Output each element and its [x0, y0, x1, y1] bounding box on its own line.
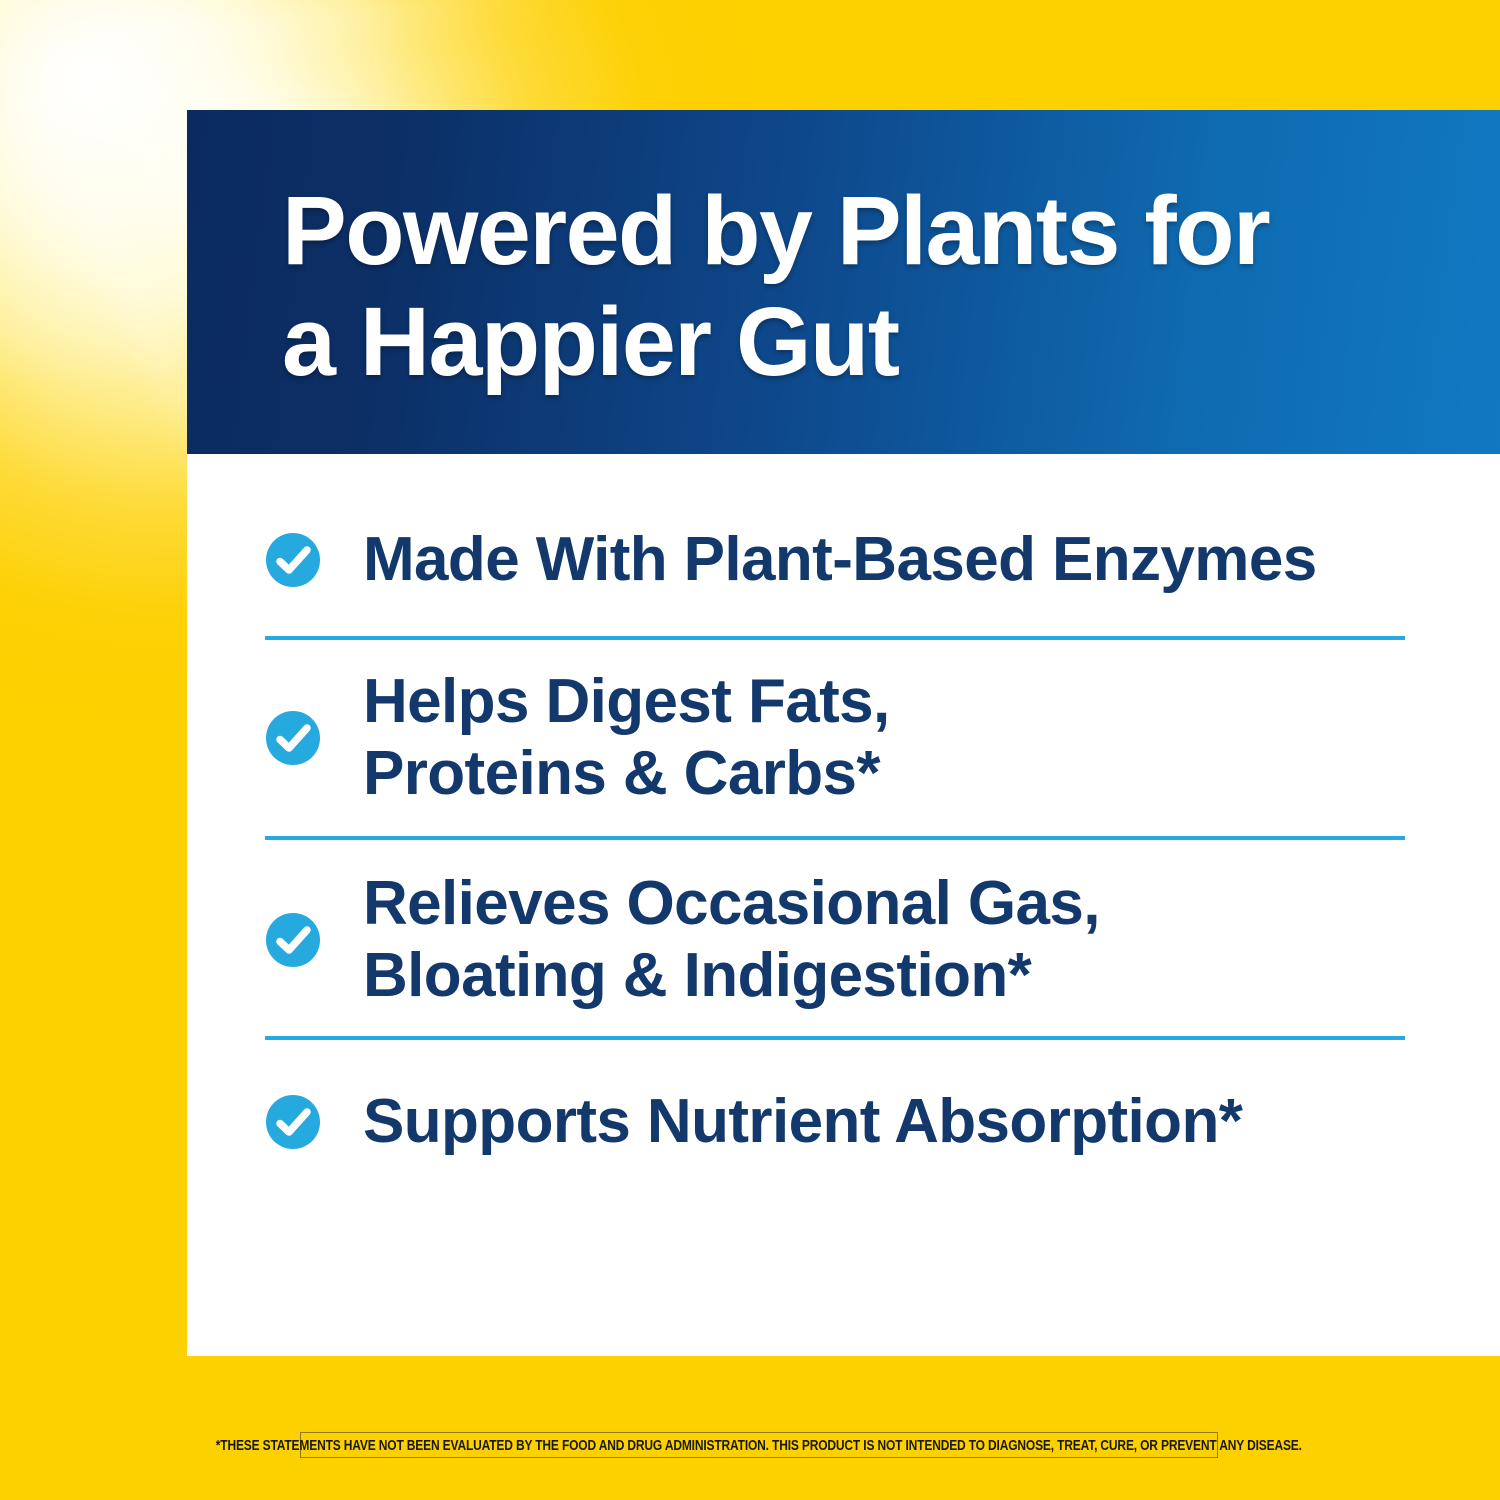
benefit-label: Relieves Occasional Gas, Bloating & Indi… — [363, 868, 1100, 1012]
benefit-item-4: Supports Nutrient Absorption* — [187, 1040, 1500, 1204]
product-benefits-graphic: Powered by Plants for a Happier Gut Made… — [0, 0, 1500, 1500]
check-circle-icon — [265, 1094, 321, 1150]
benefit-item-3: Relieves Occasional Gas, Bloating & Indi… — [187, 840, 1500, 1036]
fda-disclaimer-text: *THESE STATEMENTS HAVE NOT BEEN EVALUATE… — [216, 1437, 1302, 1454]
check-circle-icon — [265, 912, 321, 968]
content-card: Powered by Plants for a Happier Gut Made… — [187, 110, 1500, 1356]
benefit-label: Supports Nutrient Absorption* — [363, 1086, 1242, 1158]
page-title: Powered by Plants for a Happier Gut — [282, 176, 1430, 397]
fda-disclaimer-box: *THESE STATEMENTS HAVE NOT BEEN EVALUATE… — [300, 1432, 1218, 1458]
check-circle-icon — [265, 710, 321, 766]
benefit-label: Made With Plant-Based Enzymes — [363, 524, 1317, 596]
benefits-list: Made With Plant-Based Enzymes Helps Dige… — [187, 454, 1500, 1204]
check-circle-icon — [265, 532, 321, 588]
header-banner: Powered by Plants for a Happier Gut — [187, 110, 1500, 454]
benefit-item-1: Made With Plant-Based Enzymes — [187, 454, 1500, 636]
benefit-label: Helps Digest Fats, Proteins & Carbs* — [363, 666, 890, 810]
benefit-item-2: Helps Digest Fats, Proteins & Carbs* — [187, 640, 1500, 836]
